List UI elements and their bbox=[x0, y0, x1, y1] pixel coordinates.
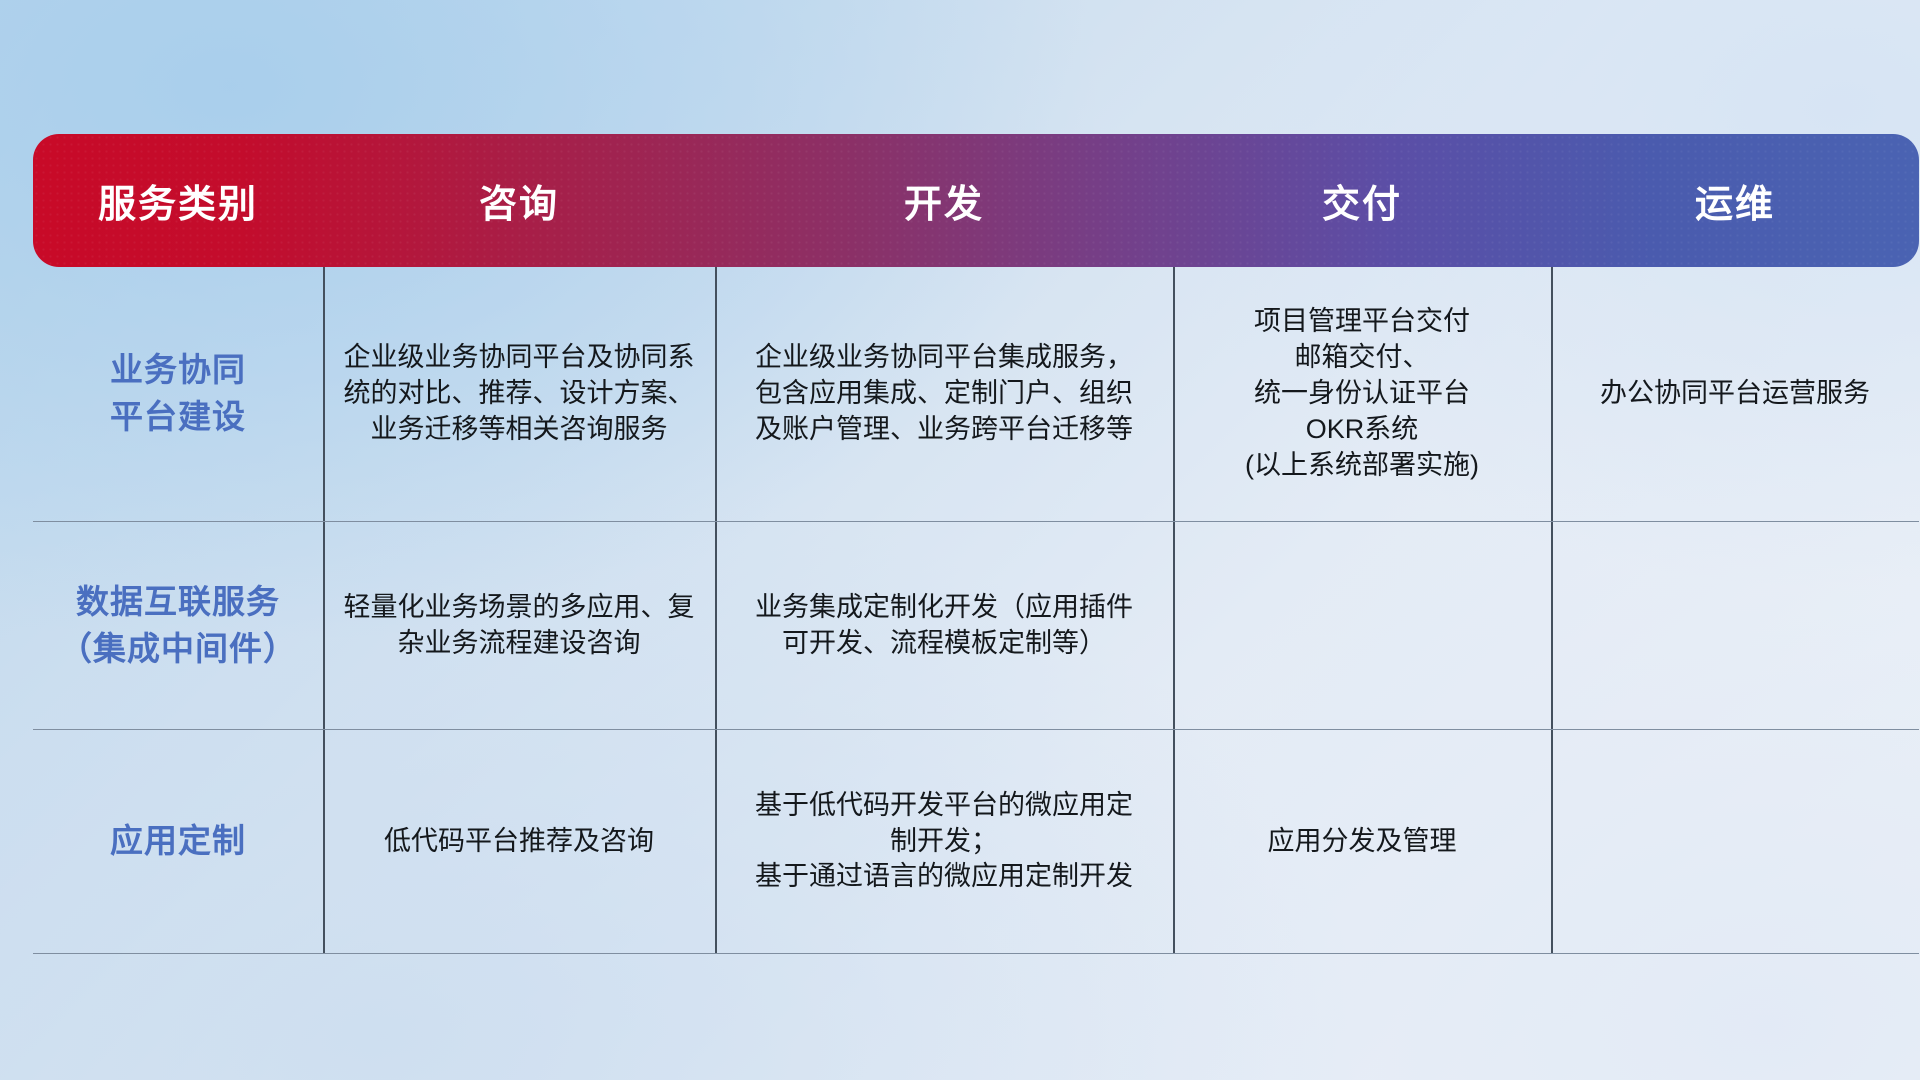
slide-canvas: 服务类别 咨询 开发 交付 运维 业务协同 平台建设 企业级业务协同平台及协同系… bbox=[0, 0, 1920, 1080]
row-category-label: 业务协同 平台建设 bbox=[33, 267, 323, 521]
cell-operations: 办公协同平台运营服务 bbox=[1551, 267, 1919, 521]
table-row: 业务协同 平台建设 企业级业务协同平台及协同系 统的对比、推荐、设计方案、 业务… bbox=[33, 267, 1919, 522]
cell-delivery: 项目管理平台交付 邮箱交付、 统一身份认证平台 OKR系统 (以上系统部署实施) bbox=[1173, 267, 1551, 521]
column-header-consulting: 咨询 bbox=[323, 173, 715, 228]
service-matrix-table: 服务类别 咨询 开发 交付 运维 业务协同 平台建设 企业级业务协同平台及协同系… bbox=[33, 134, 1919, 954]
cell-consulting: 低代码平台推荐及咨询 bbox=[323, 730, 715, 953]
column-header-development: 开发 bbox=[715, 173, 1173, 228]
cell-delivery: 应用分发及管理 bbox=[1173, 730, 1551, 953]
column-header-service-category: 服务类别 bbox=[33, 173, 323, 228]
cell-development: 业务集成定制化开发（应用插件 可开发、流程模板定制等） bbox=[715, 522, 1173, 729]
row-category-label: 数据互联服务 （集成中间件） bbox=[33, 522, 323, 729]
column-header-delivery: 交付 bbox=[1173, 173, 1551, 228]
cell-development: 企业级业务协同平台集成服务， 包含应用集成、定制门户、组织 及账户管理、业务跨平… bbox=[715, 267, 1173, 521]
table-row: 应用定制 低代码平台推荐及咨询 基于低代码开发平台的微应用定 制开发； 基于通过… bbox=[33, 730, 1919, 954]
table-header-row: 服务类别 咨询 开发 交付 运维 bbox=[33, 134, 1919, 267]
cell-operations bbox=[1551, 730, 1919, 953]
cell-consulting: 企业级业务协同平台及协同系 统的对比、推荐、设计方案、 业务迁移等相关咨询服务 bbox=[323, 267, 715, 521]
column-header-operations: 运维 bbox=[1551, 173, 1919, 228]
table-row: 数据互联服务 （集成中间件） 轻量化业务场景的多应用、复 杂业务流程建设咨询 业… bbox=[33, 522, 1919, 730]
cell-consulting: 轻量化业务场景的多应用、复 杂业务流程建设咨询 bbox=[323, 522, 715, 729]
cell-development: 基于低代码开发平台的微应用定 制开发； 基于通过语言的微应用定制开发 bbox=[715, 730, 1173, 953]
table-body: 业务协同 平台建设 企业级业务协同平台及协同系 统的对比、推荐、设计方案、 业务… bbox=[33, 267, 1919, 954]
cell-delivery bbox=[1173, 522, 1551, 729]
row-category-label: 应用定制 bbox=[33, 730, 323, 953]
cell-operations bbox=[1551, 522, 1919, 729]
